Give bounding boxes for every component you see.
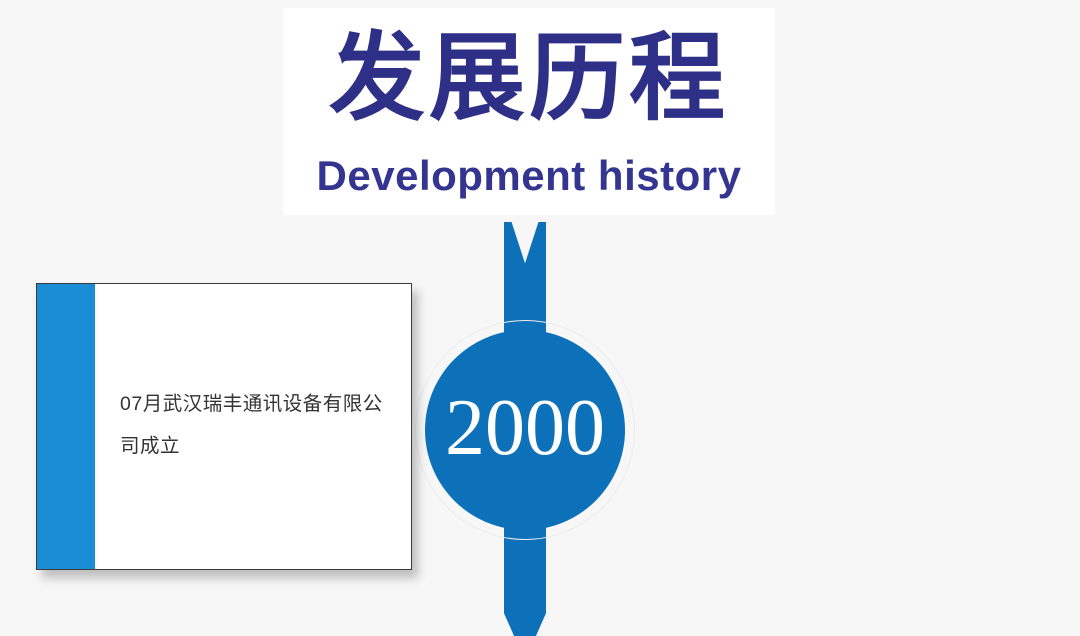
event-card-body: 07月武汉瑞丰通讯设备有限公司成立 [95,284,411,569]
title-banner: 发展历程 Development history [283,8,775,215]
milestone-year-label: 2000 [425,330,625,530]
event-card-accent-bar [37,284,95,569]
page-title-chinese: 发展历程 [283,20,775,138]
milestone-year-marker[interactable]: 2000 [425,330,625,530]
slide-canvas: 发展历程 Development history 2000 07月武汉瑞丰通讯设… [0,0,1080,636]
event-card-description: 07月武汉瑞丰通讯设备有限公司成立 [95,284,411,569]
milestone-event-card[interactable]: 07月武汉瑞丰通讯设备有限公司成立 [36,283,412,570]
page-subtitle-english: Development history [283,150,775,202]
